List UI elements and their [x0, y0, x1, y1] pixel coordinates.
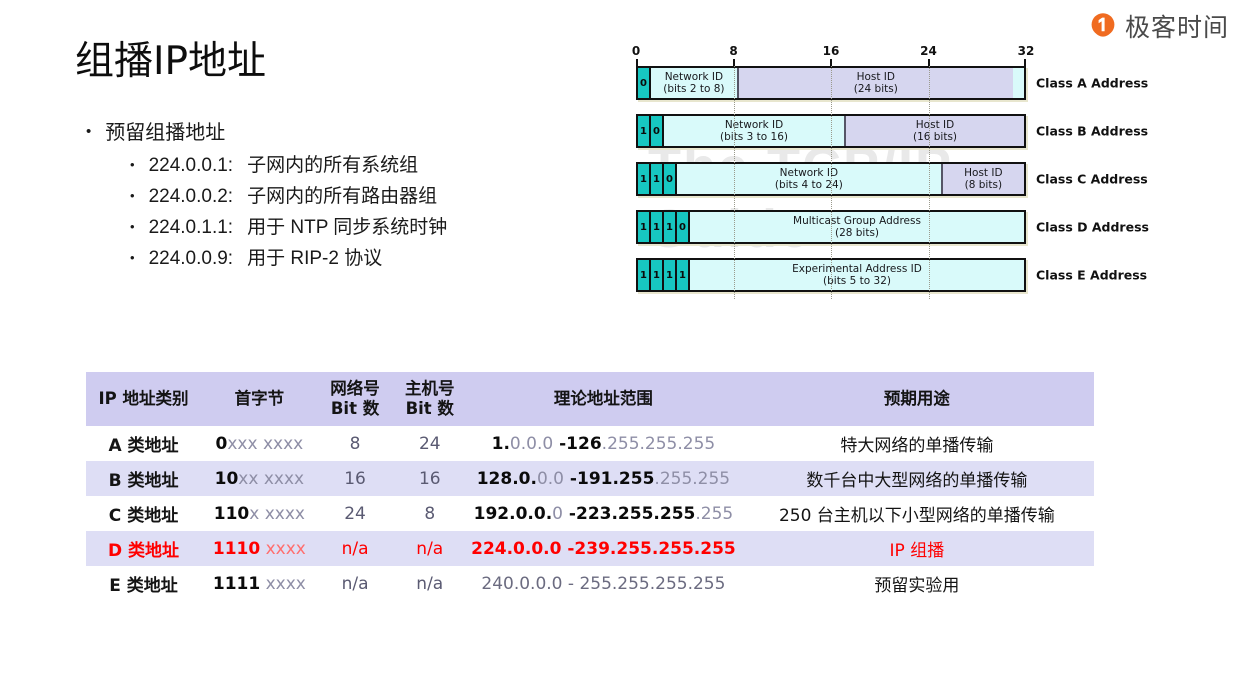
bullet-address: 224.0.0.1: — [149, 150, 234, 181]
col-header-use-label: 预期用途 — [884, 389, 950, 408]
diagram-field-title: Host ID — [857, 71, 895, 84]
bullet-address: 224.0.0.2: — [149, 181, 234, 212]
address-range-part: 240.0.0.0 - 255.255.255.255 — [481, 574, 725, 594]
bullet-address: 224.0.1.1: — [149, 212, 234, 243]
bullet-dot-icon: • — [130, 150, 135, 180]
address-range-part: 192.0.0. — [474, 504, 553, 524]
leading-bit-cell: 1 — [638, 164, 651, 194]
cell-host-bits: n/a — [392, 531, 467, 566]
cell-first-byte: 1110 xxxx — [201, 531, 318, 566]
cell-first-byte: 1111 xxxx — [201, 566, 318, 601]
bullet-list: • 预留组播地址 • 224.0.0.1: 子网内的所有系统组 • 224.0.… — [86, 118, 447, 274]
first-byte-suffix: xxx xxxx — [227, 434, 303, 454]
bullet-dot-icon: • — [86, 118, 91, 146]
diagram-field-subtitle: (28 bits) — [835, 227, 879, 240]
cell-network-bits: n/a — [318, 566, 393, 601]
bit-ruler-label: 8 — [729, 44, 737, 58]
diagram-class-label: Class A Address — [1036, 76, 1148, 91]
col-header-class: IP 地址类别 — [86, 372, 201, 426]
ip-class-diagram: The TCP/IP Guide 08162432 0Network ID(bi… — [636, 44, 1036, 299]
diagram-field-subtitle: (bits 5 to 32) — [823, 275, 891, 288]
col-header-host-bits-line2: Bit 数 — [396, 399, 463, 419]
diagram-field-net: Network ID(bits 2 to 8) — [651, 68, 737, 98]
cell-network-bits: 24 — [318, 496, 393, 531]
cell-first-byte: 10xx xxxx — [201, 461, 318, 496]
cell-class: B 类地址 — [86, 461, 201, 496]
cell-intended-use: 预留实验用 — [740, 566, 1094, 601]
cell-class: E 类地址 — [86, 566, 201, 601]
address-range-part: 0.0.0 — [510, 434, 553, 454]
table-row: D 类地址1110 xxxxn/an/a224.0.0.0 -239.255.2… — [86, 531, 1094, 566]
col-header-host-bits-line1: 主机号 — [396, 379, 463, 399]
diagram-class-label: Class E Address — [1036, 268, 1147, 283]
list-item: • 224.0.0.1: 子网内的所有系统组 — [130, 150, 447, 181]
bullet-dot-icon: • — [130, 243, 135, 273]
diagram-field-net: Network ID(bits 4 to 24) — [677, 164, 941, 194]
cell-first-byte: 110x xxxx — [201, 496, 318, 531]
address-range-part: 0.0 — [537, 469, 564, 489]
leading-bit-cell: 1 — [651, 260, 664, 290]
cell-host-bits: n/a — [392, 566, 467, 601]
leading-bit-cell: 1 — [677, 260, 690, 290]
col-header-range: 理论地址范围 — [467, 372, 740, 426]
table-header-row: IP 地址类别 首字节 网络号 Bit 数 主机号 Bit 数 理论地址范围 预 — [86, 372, 1094, 426]
table-row: E 类地址1111 xxxxn/an/a240.0.0.0 - 255.255.… — [86, 566, 1094, 601]
cell-class: D 类地址 — [86, 531, 201, 566]
bullet-level1: • 预留组播地址 — [86, 118, 447, 148]
list-item: • 224.0.1.1: 用于 NTP 同步系统时钟 — [130, 212, 447, 243]
first-byte-suffix: x xxxx — [249, 504, 305, 524]
diagram-field-title: Multicast Group Address — [793, 215, 921, 228]
bullet-level1-label: 预留组播地址 — [105, 118, 225, 148]
bit-ruler: 08162432 — [636, 44, 1026, 66]
cell-intended-use: IP 组播 — [740, 531, 1094, 566]
cell-intended-use: 数千台中大型网络的单播传输 — [740, 461, 1094, 496]
col-header-network-bits: 网络号 Bit 数 — [318, 372, 393, 426]
diagram-guide-line — [831, 66, 832, 299]
first-byte-prefix: 1111 — [213, 574, 260, 594]
leading-bit-cell: 0 — [638, 68, 651, 98]
col-header-class-label: IP 地址类别 — [99, 389, 189, 408]
diagram-field-subtitle: (8 bits) — [965, 179, 1002, 192]
first-byte-suffix: xxxx — [260, 539, 306, 559]
cell-address-range: 128.0.0.0 -191.255.255.255 — [467, 461, 740, 496]
leading-bit-cell: 0 — [664, 164, 677, 194]
bullet-sublist: • 224.0.0.1: 子网内的所有系统组 • 224.0.0.2: 子网内的… — [130, 150, 447, 274]
leading-bit-cell: 1 — [664, 212, 677, 242]
leading-bit-cell: 1 — [651, 212, 664, 242]
leading-bit-cell: 1 — [638, 260, 651, 290]
bit-ruler-label: 32 — [1018, 44, 1035, 58]
bullet-desc: 用于 RIP-2 协议 — [247, 243, 382, 274]
geektime-logo-icon — [1088, 11, 1118, 41]
bullet-desc: 用于 NTP 同步系统时钟 — [247, 212, 447, 243]
first-byte-prefix: 10 — [215, 469, 239, 489]
col-header-range-label: 理论地址范围 — [554, 389, 653, 408]
leading-bit-cell: 0 — [677, 212, 690, 242]
brand-logo: 极客时间 — [1088, 8, 1229, 44]
col-header-network-bits-line2: Bit 数 — [322, 399, 389, 419]
diagram-field-subtitle: (bits 3 to 16) — [720, 131, 788, 144]
address-range-part: 126 — [566, 434, 602, 454]
diagram-field-net: Network ID(bits 3 to 16) — [664, 116, 844, 146]
first-byte-prefix: 1110 — [213, 539, 260, 559]
cell-address-range: 1.0.0.0 -126.255.255.255 — [467, 426, 740, 461]
cell-network-bits: 16 — [318, 461, 393, 496]
bullet-dot-icon: • — [130, 212, 135, 242]
first-byte-prefix: 110 — [214, 504, 250, 524]
diagram-guide-line — [734, 66, 735, 299]
page-title: 组播IP地址 — [75, 30, 266, 86]
address-range-part: .255.255 — [654, 469, 730, 489]
col-header-first-byte-label: 首字节 — [235, 389, 285, 408]
cell-first-byte: 0xxx xxxx — [201, 426, 318, 461]
address-range-part: .255 — [695, 504, 733, 524]
cell-class: A 类地址 — [86, 426, 201, 461]
cell-intended-use: 特大网络的单播传输 — [740, 426, 1094, 461]
leading-bit-cell: 1 — [638, 116, 651, 146]
first-byte-suffix: xx xxxx — [238, 469, 304, 489]
bit-ruler-label: 0 — [632, 44, 640, 58]
address-range-part: .255.255.255 — [602, 434, 716, 454]
diagram-field-title: Host ID — [964, 167, 1002, 180]
table-row: A 类地址0xxx xxxx8241.0.0.0 -126.255.255.25… — [86, 426, 1094, 461]
bit-ruler-label: 16 — [823, 44, 840, 58]
table-row: B 类地址10xx xxxx1616128.0.0.0 -191.255.255… — [86, 461, 1094, 496]
cell-intended-use: 250 台主机以下小型网络的单播传输 — [740, 496, 1094, 531]
slide-root: 极客时间 组播IP地址 • 预留组播地址 • 224.0.0.1: 子网内的所有… — [0, 0, 1253, 688]
address-range-part: - — [553, 434, 566, 454]
diagram-field-full: Experimental Address ID(bits 5 to 32) — [690, 260, 1024, 290]
table-body: A 类地址0xxx xxxx8241.0.0.0 -126.255.255.25… — [86, 426, 1094, 601]
bullet-address: 224.0.0.9: — [149, 243, 234, 274]
cell-address-range: 240.0.0.0 - 255.255.255.255 — [467, 566, 740, 601]
leading-bit-cell: 1 — [651, 164, 664, 194]
leading-bit-cell: 1 — [638, 212, 651, 242]
brand-name: 极客时间 — [1125, 8, 1229, 44]
bullet-dot-icon: • — [130, 181, 135, 211]
diagram-class-label: Class C Address — [1036, 172, 1148, 187]
bit-ruler-label: 24 — [920, 44, 937, 58]
col-header-host-bits: 主机号 Bit 数 — [392, 372, 467, 426]
cell-address-range: 192.0.0.0 -223.255.255.255 — [467, 496, 740, 531]
bullet-desc: 子网内的所有系统组 — [247, 150, 418, 181]
first-byte-prefix: 0 — [216, 434, 228, 454]
address-range-part: 223.255.255 — [576, 504, 695, 524]
diagram-field-title: Network ID — [780, 167, 838, 180]
address-range-part: - — [563, 504, 576, 524]
address-range-part: 224.0.0.0 -239.255.255.255 — [471, 539, 736, 559]
diagram-field-title: Network ID — [665, 71, 723, 84]
address-range-part: 0 — [552, 504, 563, 524]
diagram-class-label: Class B Address — [1036, 124, 1148, 139]
table-row: C 类地址110x xxxx248192.0.0.0 -223.255.255.… — [86, 496, 1094, 531]
cell-class: C 类地址 — [86, 496, 201, 531]
col-header-first-byte: 首字节 — [201, 372, 318, 426]
diagram-class-label: Class D Address — [1036, 220, 1149, 235]
ip-class-table: IP 地址类别 首字节 网络号 Bit 数 主机号 Bit 数 理论地址范围 预 — [86, 372, 1094, 601]
diagram-field-subtitle: (bits 4 to 24) — [775, 179, 843, 192]
cell-address-range: 224.0.0.0 -239.255.255.255 — [467, 531, 740, 566]
diagram-field-subtitle: (bits 2 to 8) — [663, 83, 724, 96]
list-item: • 224.0.0.9: 用于 RIP-2 协议 — [130, 243, 447, 274]
first-byte-suffix: xxxx — [260, 574, 306, 594]
diagram-field-subtitle: (16 bits) — [913, 131, 957, 144]
diagram-field-title: Host ID — [916, 119, 954, 132]
diagram-field-host: Host ID(8 bits) — [941, 164, 1024, 194]
cell-host-bits: 16 — [392, 461, 467, 496]
diagram-field-title: Experimental Address ID — [792, 263, 922, 276]
col-header-network-bits-line1: 网络号 — [322, 379, 389, 399]
diagram-guide-line — [929, 66, 930, 299]
col-header-use: 预期用途 — [740, 372, 1094, 426]
diagram-field-host: Host ID(24 bits) — [737, 68, 1013, 98]
cell-network-bits: n/a — [318, 531, 393, 566]
diagram-field-subtitle: (24 bits) — [854, 83, 898, 96]
cell-host-bits: 8 — [392, 496, 467, 531]
list-item: • 224.0.0.2: 子网内的所有路由器组 — [130, 181, 447, 212]
address-range-part: 128.0. — [477, 469, 537, 489]
diagram-field-full: Multicast Group Address(28 bits) — [690, 212, 1024, 242]
cell-host-bits: 24 — [392, 426, 467, 461]
address-range-part: 191.255 — [577, 469, 654, 489]
address-range-part: 1. — [492, 434, 510, 454]
bullet-desc: 子网内的所有路由器组 — [247, 181, 437, 212]
leading-bit-cell: 1 — [664, 260, 677, 290]
cell-network-bits: 8 — [318, 426, 393, 461]
address-range-part: - — [564, 469, 577, 489]
leading-bit-cell: 0 — [651, 116, 664, 146]
diagram-field-host: Host ID(16 bits) — [844, 116, 1024, 146]
